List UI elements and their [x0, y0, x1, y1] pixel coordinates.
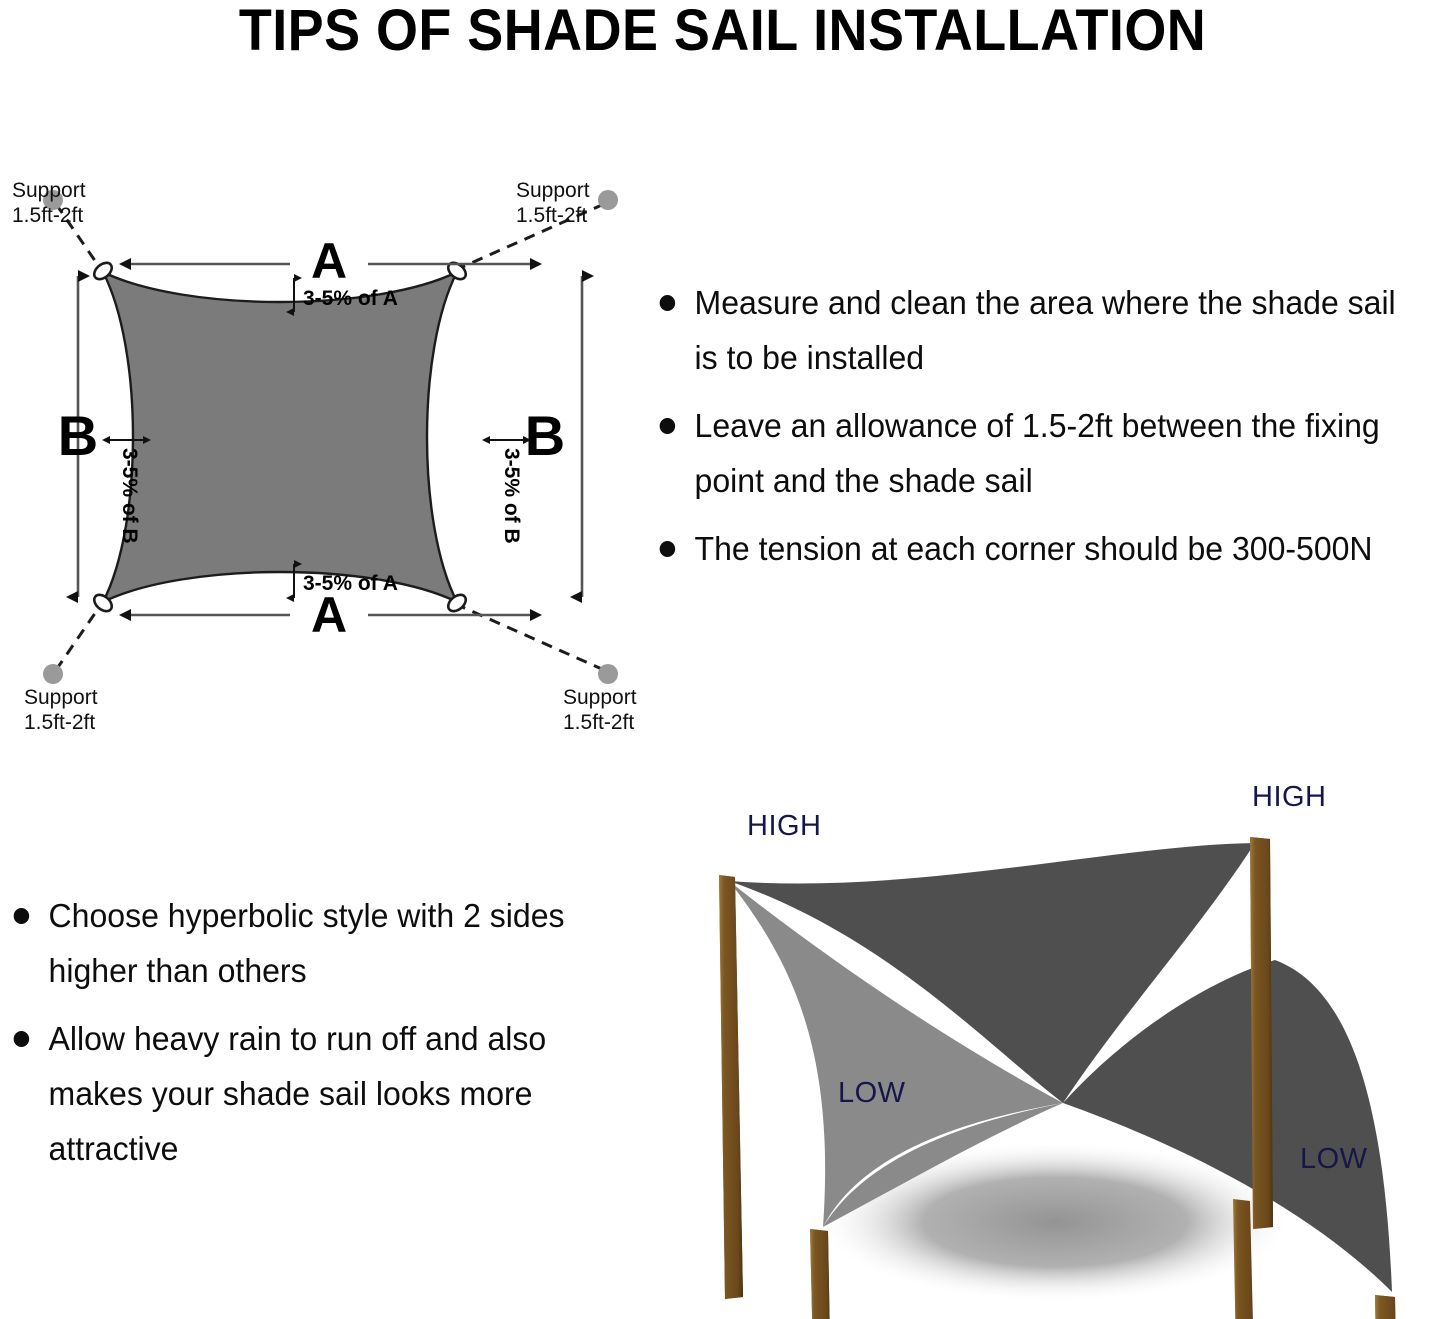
dim-label-b-right: B: [525, 404, 565, 467]
post-low-left-front: [810, 1229, 831, 1319]
support-label-top-left: Support 1.5ft-2ft: [12, 178, 86, 228]
page-title: TIPS OF SHADE SAIL INSTALLATION: [51, 0, 1395, 62]
rectangular-sail-diagram: A 3-5% of A A 3-5% of A B 3-5% of B B 3-…: [0, 160, 660, 740]
list-item: Choose hyperbolic style with 2 sides hig…: [2, 888, 603, 998]
dim-label-a-bottom: A: [311, 587, 347, 643]
bullet-dot-icon: [14, 908, 30, 924]
tips-list-left: Choose hyperbolic style with 2 sides hig…: [2, 888, 622, 1189]
list-item-text: The tension at each corner should be 300…: [695, 530, 1373, 567]
list-item: Leave an allowance of 1.5-2ft between th…: [648, 398, 1424, 508]
label-high-left: HIGH: [747, 810, 822, 843]
support-label-top-right: Support 1.5ft-2ft: [516, 178, 590, 228]
dim-label-curve-top: 3-5% of A: [303, 287, 398, 310]
list-item: Allow heavy rain to run off and also mak…: [2, 1011, 603, 1176]
post-high-left-front: [719, 875, 743, 1299]
hyperbolic-sail-diagram: HIGH HIGH LOW LOW: [655, 785, 1445, 1319]
support-label-bottom-left: Support 1.5ft-2ft: [24, 685, 98, 735]
bullet-list: Choose hyperbolic style with 2 sides hig…: [2, 888, 622, 1176]
bullet-dot-icon: [660, 418, 676, 434]
dim-label-b-left: B: [58, 404, 98, 467]
support-dot-bottom-left: [43, 664, 63, 684]
dim-label-curve-left: 3-5% of B: [118, 448, 141, 544]
rect-sail-svg: A 3-5% of A A 3-5% of A B 3-5% of B B 3-…: [0, 160, 660, 740]
support-label-bottom-right: Support 1.5ft-2ft: [563, 685, 637, 735]
support-dot-top-right: [598, 190, 618, 210]
tips-list-right: Measure and clean the area where the sha…: [648, 275, 1445, 589]
dim-label-a-top: A: [311, 233, 347, 289]
bullet-dot-icon: [660, 295, 676, 311]
support-dot-bottom-right: [598, 664, 618, 684]
dimension-b-right: B 3-5% of B: [490, 276, 582, 597]
bullet-dot-icon: [660, 541, 676, 557]
shade-sail-body: [103, 272, 457, 602]
label-low-left: LOW: [838, 1077, 906, 1110]
label-high-right: HIGH: [1252, 781, 1327, 814]
list-item-text: Measure and clean the area where the sha…: [695, 284, 1396, 376]
list-item: The tension at each corner should be 300…: [648, 521, 1424, 576]
dim-label-curve-right: 3-5% of B: [500, 448, 523, 544]
list-item-text: Leave an allowance of 1.5-2ft between th…: [695, 407, 1380, 499]
dim-label-curve-bottom: 3-5% of A: [303, 572, 398, 595]
post-high-right-front: [1250, 837, 1273, 1229]
list-item-text: Allow heavy rain to run off and also mak…: [49, 1020, 547, 1167]
list-item: Measure and clean the area where the sha…: [648, 275, 1424, 385]
post-low-right-front: [1375, 1295, 1399, 1319]
hyperbolic-sail-svg: [655, 785, 1445, 1319]
bullet-list: Measure and clean the area where the sha…: [648, 275, 1445, 576]
list-item-text: Choose hyperbolic style with 2 sides hig…: [49, 897, 565, 989]
bullet-dot-icon: [14, 1031, 30, 1047]
label-low-right: LOW: [1300, 1143, 1368, 1176]
